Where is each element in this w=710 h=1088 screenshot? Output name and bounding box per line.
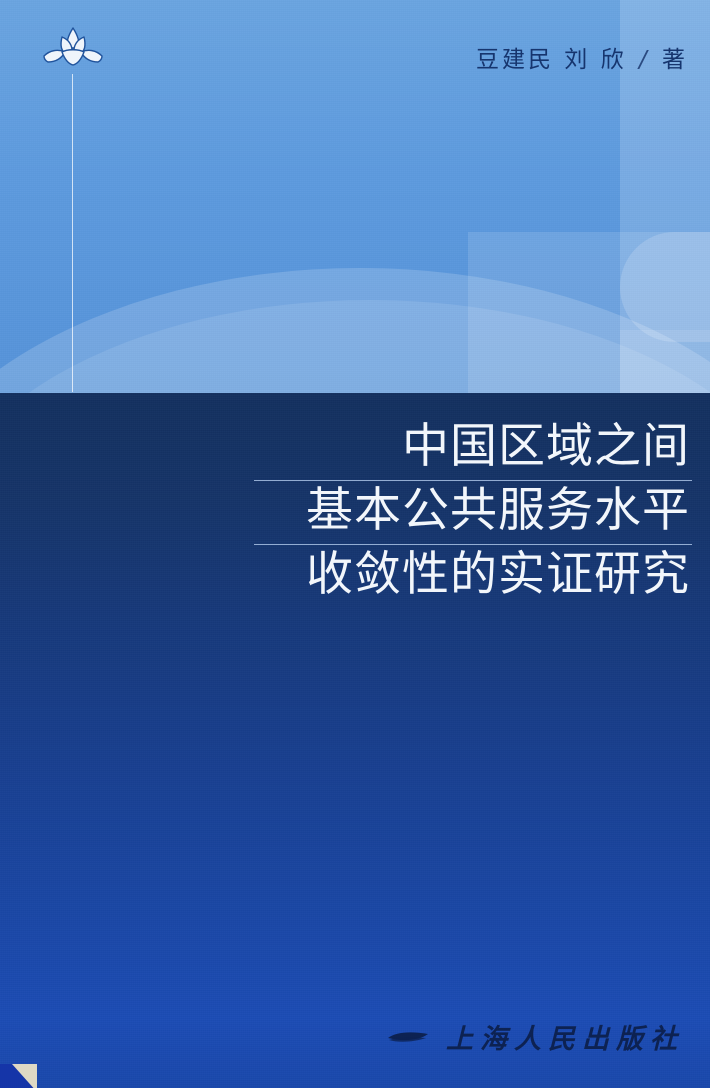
book-cover: 豆建民 刘 欣 / 著 中国区域之间 基本公共服务水平 收敛性的实证研究 经济学… [0,0,710,1088]
decorative-block-lower-right [620,330,710,393]
cover-bottom-panel: 中国区域之间 基本公共服务水平 收敛性的实证研究 经济学系列 上海人民出版社 [0,393,710,1088]
series-banner: 经济学系列 [0,1064,37,1088]
publisher-brush-mark-icon [386,1029,430,1044]
publisher-line: 上海人民出版社 [386,1017,684,1056]
cover-top-panel: 豆建民 刘 欣 / 著 [0,0,710,393]
author-byline: 豆建民 刘 欣 / 著 [476,40,688,74]
banner-notch-top [12,1064,37,1088]
author-separator: / [637,47,652,73]
author-role: 著 [662,47,688,73]
ornament-stem-line [72,74,73,392]
author-names: 豆建民 刘 欣 [476,47,627,73]
title-line-3: 收敛性的实证研究 [212,545,692,608]
book-title: 中国区域之间 基本公共服务水平 收敛性的实证研究 [212,417,692,608]
title-line-1: 中国区域之间 [212,417,692,480]
lotus-flower-icon [38,24,108,76]
title-line-2: 基本公共服务水平 [212,481,692,544]
publisher-name: 上海人民出版社 [446,1017,684,1056]
